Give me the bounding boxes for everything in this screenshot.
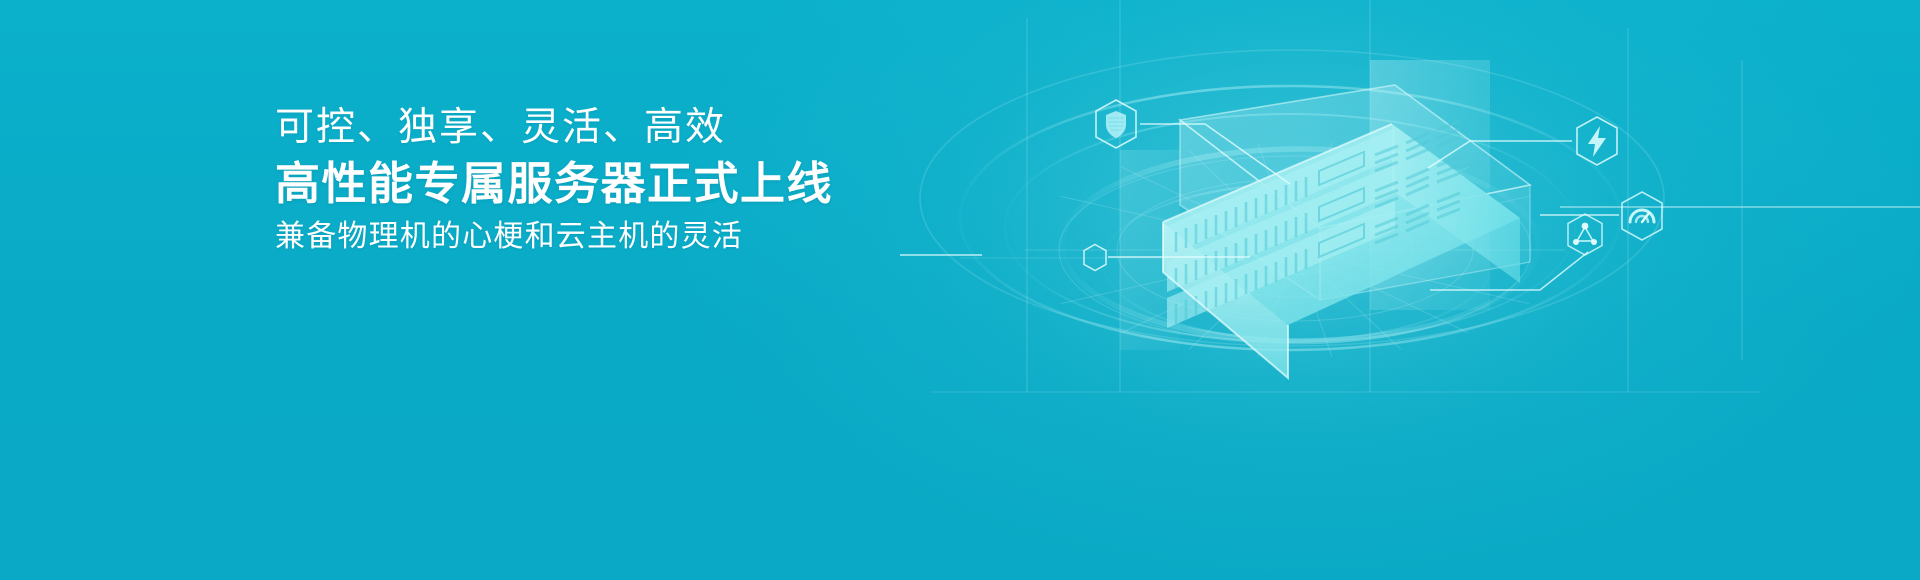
connector-bolt xyxy=(1428,141,1572,168)
banner-copy: 可控、独享、灵活、高效 高性能专属服务器正式上线 兼备物理机的心梗和云主机的灵活 xyxy=(275,105,833,255)
bolt-icon xyxy=(1574,115,1620,167)
connector-network xyxy=(1430,252,1588,290)
server-shell-edges xyxy=(1163,124,1392,378)
shield-icon xyxy=(1093,98,1139,150)
connector-shield xyxy=(1140,124,1290,184)
banner-subtitle: 兼备物理机的心梗和云主机的灵活 xyxy=(275,219,743,255)
hex-node-icon xyxy=(1082,243,1108,272)
orbit-rings xyxy=(920,50,1664,350)
promo-banner: 可控、独享、灵活、高效 高性能专属服务器正式上线 兼备物理机的心梗和云主机的灵活 xyxy=(0,0,1920,580)
network-icon xyxy=(1565,212,1605,257)
server-drive-bays xyxy=(1319,152,1364,257)
server-illustration xyxy=(0,0,1920,580)
server-front-face xyxy=(1163,222,1288,378)
gauge-icon xyxy=(1619,190,1665,242)
glass-panels xyxy=(1120,60,1490,350)
banner-kicker: 可控、独享、灵活、高效 xyxy=(275,105,726,151)
connector-lines xyxy=(900,124,1920,290)
server-box xyxy=(1163,85,1530,378)
server-rack-units xyxy=(1167,128,1395,328)
horizontal-gridlines xyxy=(930,258,1760,392)
server-glass-shell xyxy=(1180,85,1530,300)
server-indicator-blocks xyxy=(1375,121,1460,243)
server-vent-slots xyxy=(1176,177,1306,324)
banner-headline: 高性能专属服务器正式上线 xyxy=(275,157,833,210)
server-top-face xyxy=(1163,124,1520,325)
server-side-face xyxy=(1392,124,1520,283)
